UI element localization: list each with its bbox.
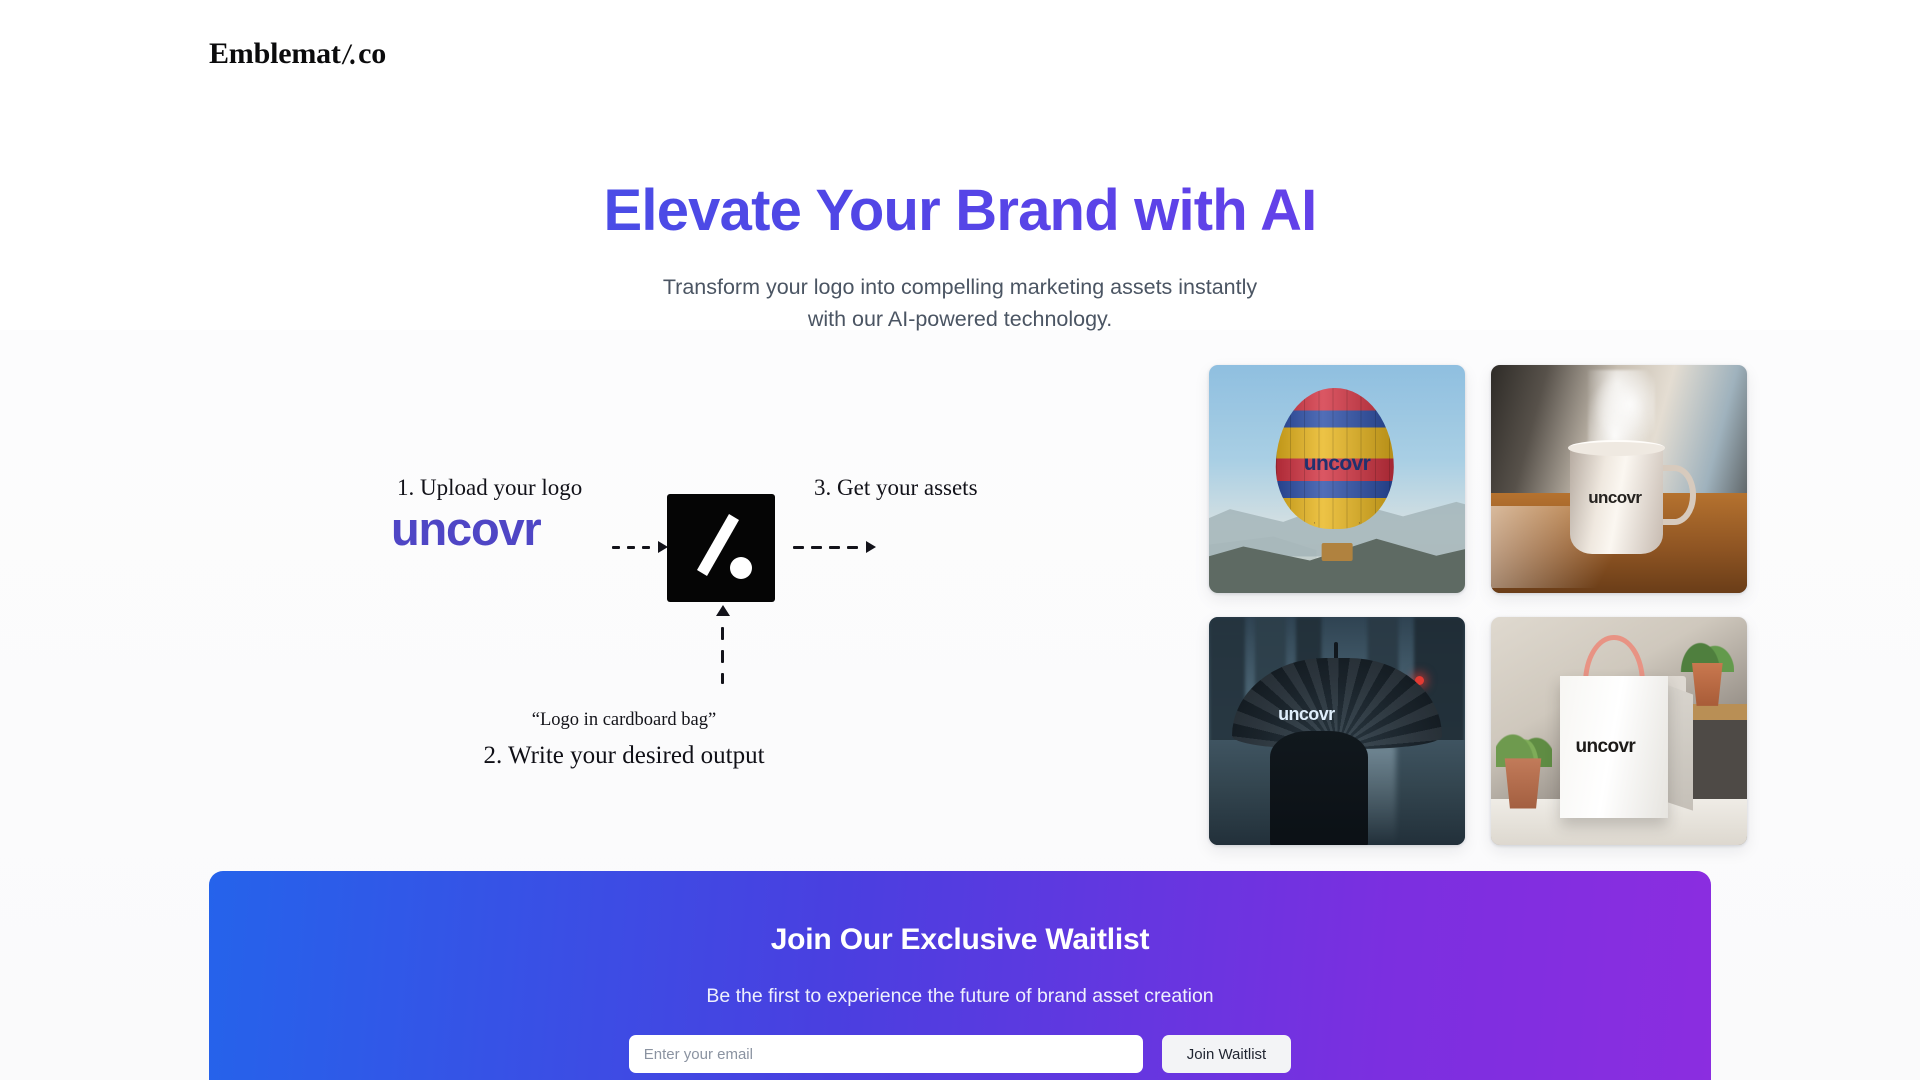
showcase-section: 1. Upload your logo uncovr 3. Get your a… bbox=[209, 365, 1711, 825]
flow-step-2-label: 2. Write your desired output bbox=[209, 742, 999, 770]
waitlist-title: Join Our Exclusive Waitlist bbox=[209, 923, 1711, 957]
asset-card-shopping-bag[interactable]: uncovr bbox=[1491, 617, 1747, 845]
coffee-mug-image bbox=[1491, 365, 1747, 593]
asset-brand-text: uncovr bbox=[1304, 452, 1370, 476]
flow-arrow-engine-to-output-icon bbox=[793, 541, 876, 553]
asset-brand-text: uncovr bbox=[1278, 704, 1334, 725]
waitlist-form: Join Waitlist bbox=[209, 1035, 1711, 1073]
hero-subtitle: Transform your logo into compelling mark… bbox=[0, 271, 1920, 336]
asset-brand-text: uncovr bbox=[1588, 488, 1641, 508]
hero-subtitle-line-2: with our AI-powered technology. bbox=[0, 303, 1920, 336]
page-title: Elevate Your Brand with AI bbox=[0, 180, 1920, 243]
waitlist-section: Join Our Exclusive Waitlist Be the first… bbox=[209, 871, 1711, 1080]
hero-section: Elevate Your Brand with AI Transform you… bbox=[0, 180, 1920, 336]
email-input[interactable] bbox=[629, 1035, 1143, 1073]
flow-step-1-label: 1. Upload your logo bbox=[397, 475, 582, 501]
flow-arrow-input-to-engine-icon bbox=[612, 541, 668, 553]
umbrella-image bbox=[1209, 617, 1465, 845]
how-it-works-diagram: 1. Upload your logo uncovr 3. Get your a… bbox=[209, 365, 999, 825]
slash-dot-logo-icon bbox=[667, 494, 775, 602]
hot-air-balloon-image bbox=[1209, 365, 1465, 593]
brand-logo[interactable]: Emblemat/.co bbox=[209, 37, 386, 71]
brand-slash-dot-icon: /. bbox=[342, 38, 357, 72]
waitlist-subtitle: Be the first to experience the future of… bbox=[209, 985, 1711, 1008]
asset-card-hot-air-balloon[interactable]: uncovr bbox=[1209, 365, 1465, 593]
asset-card-coffee-mug[interactable]: uncovr bbox=[1491, 365, 1747, 593]
brand-logo-suffix: co bbox=[358, 37, 386, 71]
flow-input-logo-wordmark: uncovr bbox=[391, 505, 541, 552]
flow-step-3-label: 3. Get your assets bbox=[814, 475, 978, 501]
landing-page: Emblemat/.co Elevate Your Brand with AI … bbox=[0, 0, 1920, 1080]
site-header: Emblemat/.co bbox=[209, 33, 386, 75]
flow-prompt-example: “Logo in cardboard bag” bbox=[209, 710, 999, 731]
generated-assets-grid: uncovr uncovr bbox=[1209, 365, 1747, 845]
join-waitlist-button[interactable]: Join Waitlist bbox=[1162, 1035, 1291, 1073]
asset-card-umbrella[interactable]: uncovr bbox=[1209, 617, 1465, 845]
asset-brand-text: uncovr bbox=[1575, 736, 1635, 758]
brand-logo-prefix: Emblemat bbox=[209, 37, 341, 71]
flow-arrow-prompt-to-engine-icon bbox=[716, 605, 730, 697]
hero-subtitle-line-1: Transform your logo into compelling mark… bbox=[0, 271, 1920, 304]
shopping-bag-image bbox=[1491, 617, 1747, 845]
